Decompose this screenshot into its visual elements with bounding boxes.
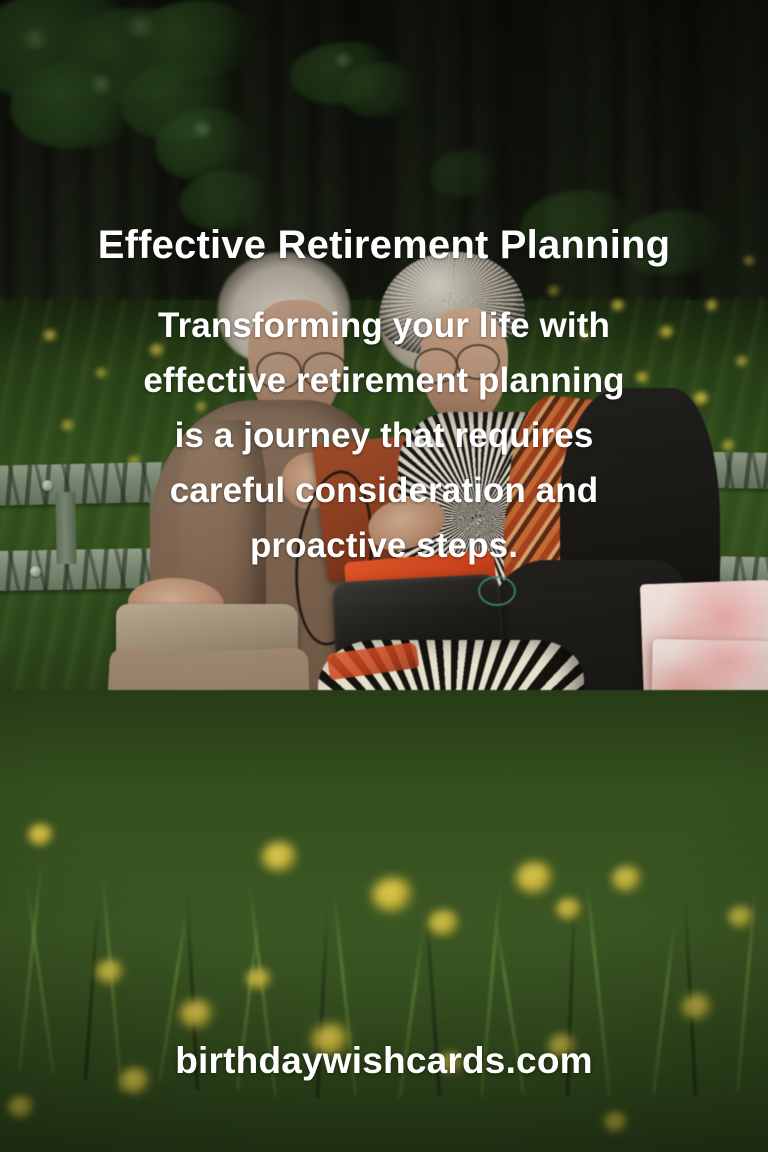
message-line-1: Transforming your life with [0,298,768,353]
message-line-4: careful consideration and [0,463,768,518]
greeting-card: Effective Retirement Planning Transformi… [0,0,768,1152]
message-block: Transforming your life with effective re… [0,298,768,573]
website-watermark: birthdaywishcards.com [0,1040,768,1082]
message-line-5: proactive steps. [0,518,768,573]
page-title: Effective Retirement Planning [0,222,768,268]
text-overlay: Effective Retirement Planning Transformi… [0,0,768,1152]
message-line-2: effective retirement planning [0,353,768,408]
message-line-3: is a journey that requires [0,408,768,463]
